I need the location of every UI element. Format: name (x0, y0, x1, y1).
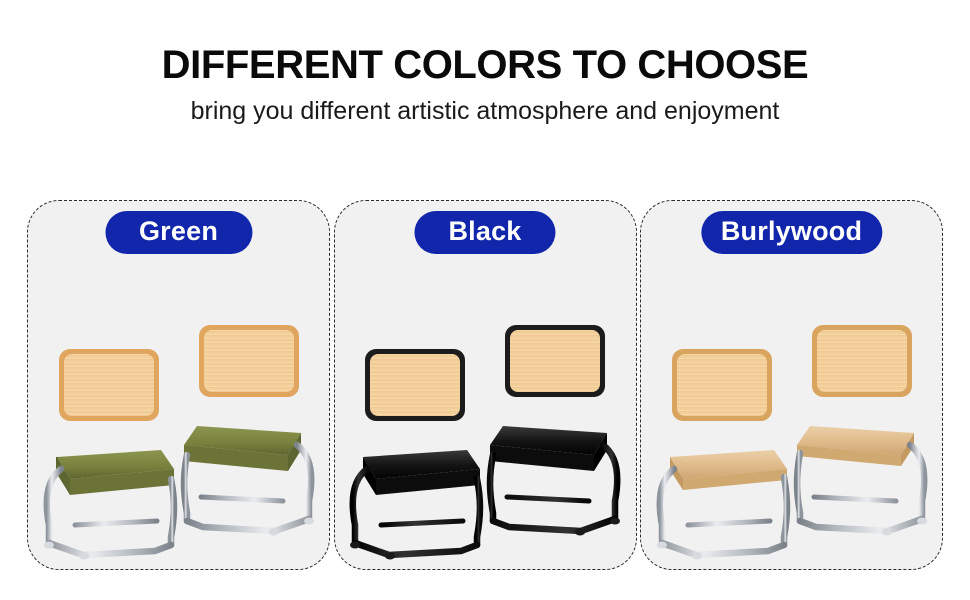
product-color-options-banner: DIFFERENT COLORS TO CHOOSE bring you dif… (0, 0, 970, 600)
chair-group-black (335, 321, 636, 561)
chair-image-black-front (341, 329, 493, 561)
chair-image-green-angled (171, 305, 323, 537)
color-option-cards: Green (0, 200, 970, 572)
chair-image-black-angled (477, 305, 629, 537)
page-title: DIFFERENT COLORS TO CHOOSE (0, 44, 970, 86)
color-label-black: Black (414, 211, 555, 254)
chair-image-burlywood-angled (784, 305, 936, 537)
page-subtitle: bring you different artistic atmosphere … (0, 97, 970, 126)
color-label-green: Green (105, 211, 252, 254)
color-card-black[interactable]: Black (334, 200, 637, 570)
heading-block: DIFFERENT COLORS TO CHOOSE bring you dif… (0, 0, 970, 126)
color-card-green[interactable]: Green (27, 200, 330, 570)
chair-image-burlywood-front (648, 329, 800, 561)
color-label-burlywood: Burlywood (701, 211, 882, 254)
chair-group-green (28, 321, 329, 561)
chair-image-green-front (35, 329, 187, 561)
chair-group-burlywood (641, 321, 942, 561)
color-card-burlywood[interactable]: Burlywood (640, 200, 943, 570)
